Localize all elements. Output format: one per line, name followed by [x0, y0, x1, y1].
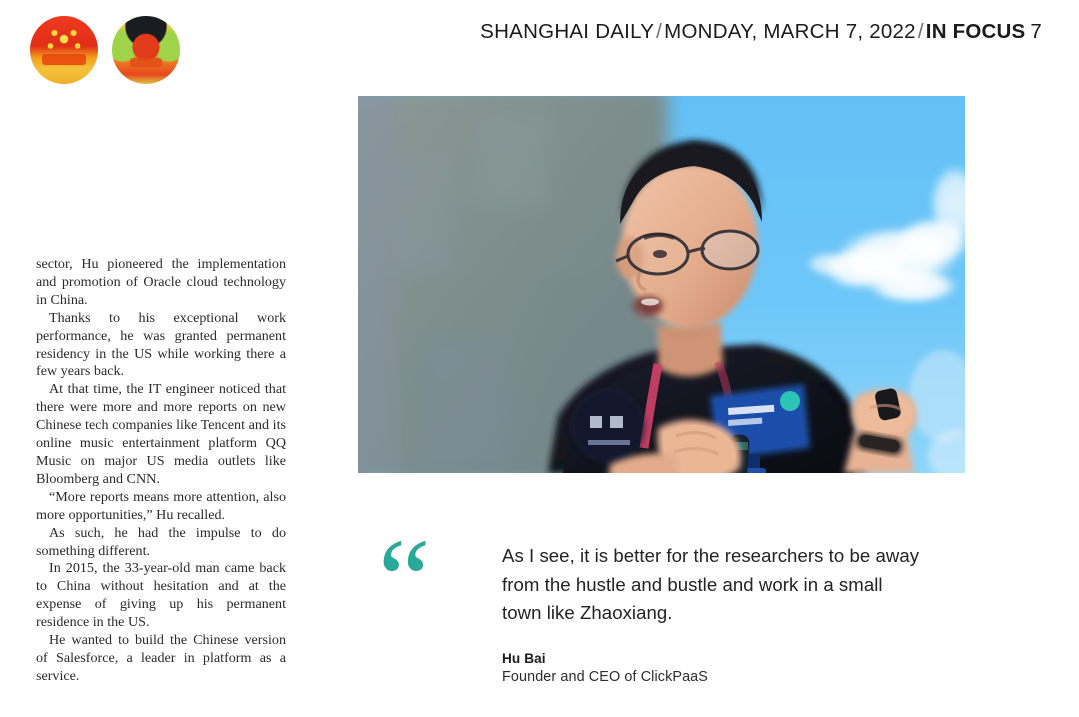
masthead-title: SHANGHAI DAILY/MONDAY, MARCH 7, 2022/IN …	[480, 20, 1042, 44]
attribution-name: Hu Bai	[502, 650, 922, 668]
publication-name: SHANGHAI DAILY	[480, 20, 654, 43]
article-paragraph: At that time, the IT engineer noticed th…	[36, 381, 286, 488]
publication-date: MONDAY, MARCH 7, 2022	[664, 20, 916, 43]
cppcc-emblem-icon	[112, 16, 180, 84]
speaker-photo	[358, 96, 965, 473]
article-paragraph: As such, he had the impulse to do someth…	[36, 525, 286, 561]
pull-quote-content: As I see, it is better for the researche…	[502, 542, 922, 687]
quote-mark-icon: “	[378, 534, 448, 604]
masthead: SHANGHAI DAILY/MONDAY, MARCH 7, 2022/IN …	[0, 0, 1079, 96]
article-paragraph: sector, Hu pioneered the implementation …	[36, 256, 286, 310]
masthead-separator-2: /	[916, 20, 926, 43]
page-number: 7	[1025, 20, 1042, 43]
article-paragraph: In 2015, the 33-year-old man came back t…	[36, 560, 286, 632]
article-paragraph: He wanted to build the Chinese version o…	[36, 632, 286, 686]
speaker-photo-graphic	[358, 96, 965, 473]
pull-quote-text: As I see, it is better for the researche…	[502, 542, 922, 628]
article-paragraph: “More reports means more attention, also…	[36, 489, 286, 525]
article-paragraph: Thanks to his exceptional work performan…	[36, 310, 286, 382]
china-national-emblem-icon	[30, 16, 98, 84]
masthead-separator-1: /	[654, 20, 664, 43]
article-body-column: sector, Hu pioneered the implementation …	[36, 256, 286, 686]
emblem-group	[30, 16, 180, 84]
pull-quote-attribution: Hu Bai Founder and CEO of ClickPaaS	[502, 650, 922, 687]
section-name: IN FOCUS	[926, 20, 1026, 43]
attribution-role: Founder and CEO of ClickPaaS	[502, 668, 922, 687]
